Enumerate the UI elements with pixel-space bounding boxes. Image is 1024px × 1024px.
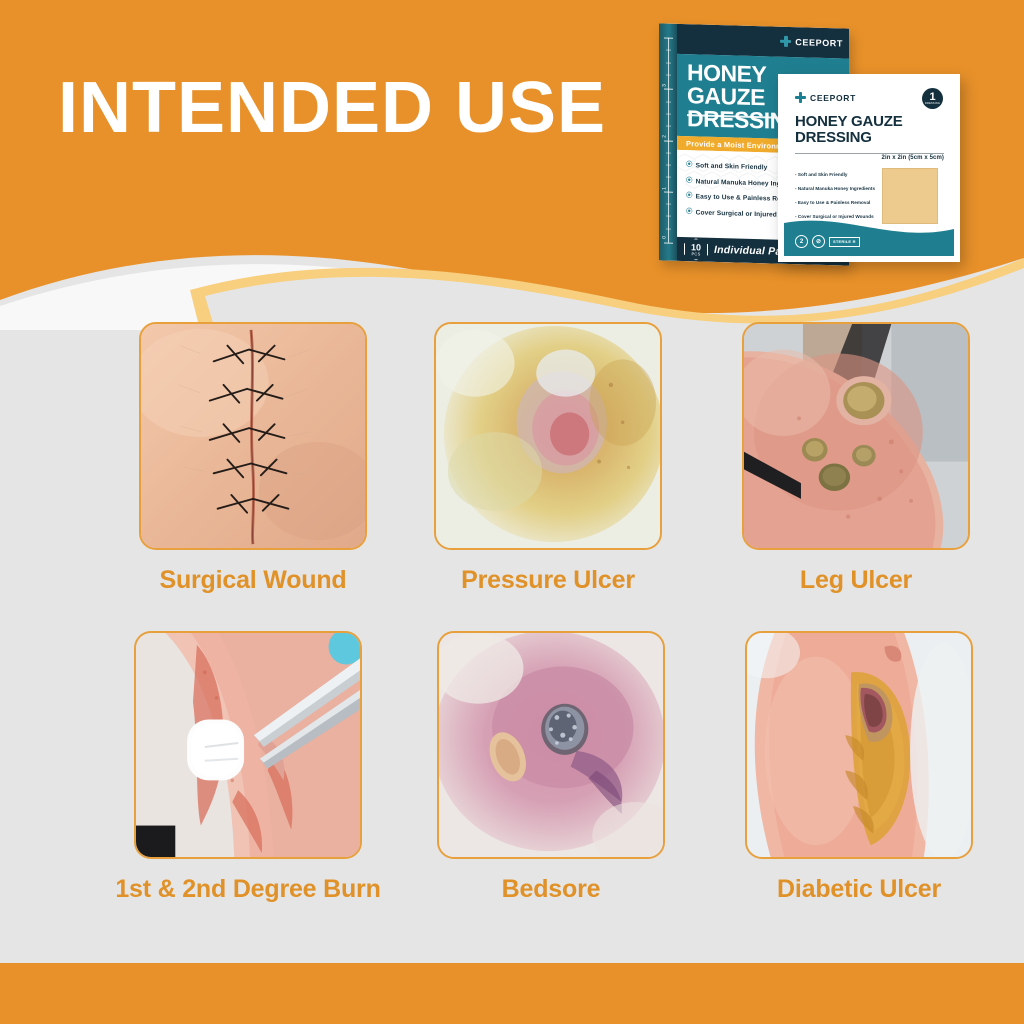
use-case-row-1: Surgical Wound <box>0 322 1024 595</box>
box-brand-lockup: CEEPORT <box>780 36 843 49</box>
use-case-cell-leg-ulcer[interactable]: Leg Ulcer <box>698 322 998 595</box>
use-case-cell-burn[interactable]: 1st & 2nd Degree Burn <box>98 631 398 904</box>
header-banner: INTENDED USE <box>0 0 1024 330</box>
sachet-symbol-row: 2 ⊘ STERILE R <box>795 235 860 248</box>
footer-bar <box>0 963 1024 1024</box>
pcs-count-label: PCS <box>691 252 700 256</box>
burn-wound-photo <box>136 633 360 857</box>
medical-cross-icon <box>795 92 806 103</box>
sterile-symbol-icon: STERILE R <box>829 237 860 247</box>
ruler-label-1: 1 <box>661 187 667 190</box>
use-case-caption: Pressure Ulcer <box>461 566 635 595</box>
use-case-card[interactable] <box>139 322 367 550</box>
use-case-cell-pressure-ulcer[interactable]: Pressure Ulcer <box>398 322 698 595</box>
sachet-brand-lockup: CEEPORT <box>795 92 856 103</box>
use-case-caption: Diabetic Ulcer <box>777 875 941 904</box>
sachet-title-line1: HONEY GAUZE <box>795 114 903 130</box>
use-case-card[interactable] <box>742 322 970 550</box>
sachet-divider <box>795 153 944 154</box>
use-case-grid: Surgical Wound <box>0 322 1024 904</box>
use-case-caption: 1st & 2nd Degree Burn <box>115 875 380 904</box>
sachet-size-label: 2in x 2in (5cm x 5cm) <box>882 155 944 161</box>
sachet-brand-name: CEEPORT <box>810 93 856 103</box>
ruler-label-0: 0 <box>661 236 667 239</box>
ruler-label-3: 3 <box>661 84 667 87</box>
use-case-caption: Surgical Wound <box>159 566 346 595</box>
use-case-card[interactable] <box>437 631 665 859</box>
pressure-ulcer-photo <box>436 324 660 548</box>
use-case-row-2: 1st & 2nd Degree Burn <box>0 631 1024 904</box>
bedsore-photo <box>439 633 663 857</box>
box-spine: 3 2 1 0 <box>659 23 677 261</box>
use-case-card[interactable] <box>134 631 362 859</box>
box-top-band: CEEPORT <box>677 24 849 59</box>
sachet-product-title: HONEY GAUZE DRESSING <box>795 114 903 146</box>
product-photo-group: 3 2 1 0 CEEPORT HONEY GAUZE DRESS <box>650 18 980 273</box>
product-sachet: CEEPORT 1 DRESSING HONEY GAUZE DRESSING … <box>778 74 960 262</box>
sachet-bullet-item: - Natural Manuka Honey Ingredients <box>795 186 887 191</box>
sachet-title-line2: DRESSING <box>795 130 903 146</box>
quantity-badge-label: DRESSING <box>925 103 940 106</box>
use-case-cell-surgical-wound[interactable]: Surgical Wound <box>98 322 398 595</box>
use-case-card[interactable] <box>434 322 662 550</box>
surgical-wound-photo <box>141 324 365 548</box>
pcs-count-badge: 10 PCS <box>684 238 708 261</box>
ruler-label-2: 2 <box>661 135 667 138</box>
use-case-caption: Bedsore <box>502 875 601 904</box>
honey-dipper-bullet-icon: ⦿ <box>686 178 693 185</box>
leg-ulcer-photo <box>744 324 968 548</box>
use-case-caption: Leg Ulcer <box>800 566 912 595</box>
diabetic-ulcer-photo <box>747 633 971 857</box>
use-case-cell-diabetic-ulcer[interactable]: Diabetic Ulcer <box>698 631 998 904</box>
page-title: INTENDED USE <box>58 72 606 144</box>
honey-dipper-bullet-icon: ⦿ <box>686 193 693 200</box>
box-bullet-text: Soft and Skin Friendly <box>696 162 768 171</box>
sachet-bullet-item: - Easy to Use & Painless Removal <box>795 200 887 205</box>
use-by-symbol-icon: 2 <box>795 235 808 248</box>
use-case-card[interactable] <box>745 631 973 859</box>
quantity-badge: 1 DRESSING <box>922 88 943 109</box>
honey-dipper-bullet-icon: ⦿ <box>686 209 693 216</box>
do-not-reuse-symbol-icon: ⊘ <box>812 235 825 248</box>
ruler-scale-icon: 3 2 1 0 <box>664 37 673 242</box>
honey-dipper-bullet-icon: ⦿ <box>686 162 693 169</box>
medical-cross-icon <box>780 36 791 47</box>
box-brand-name: CEEPORT <box>795 37 843 48</box>
use-case-cell-bedsore[interactable]: Bedsore <box>398 631 698 904</box>
infographic-page: INTENDED USE <box>0 0 1024 1024</box>
sachet-bullet-item: - Soft and Skin Friendly <box>795 172 887 177</box>
